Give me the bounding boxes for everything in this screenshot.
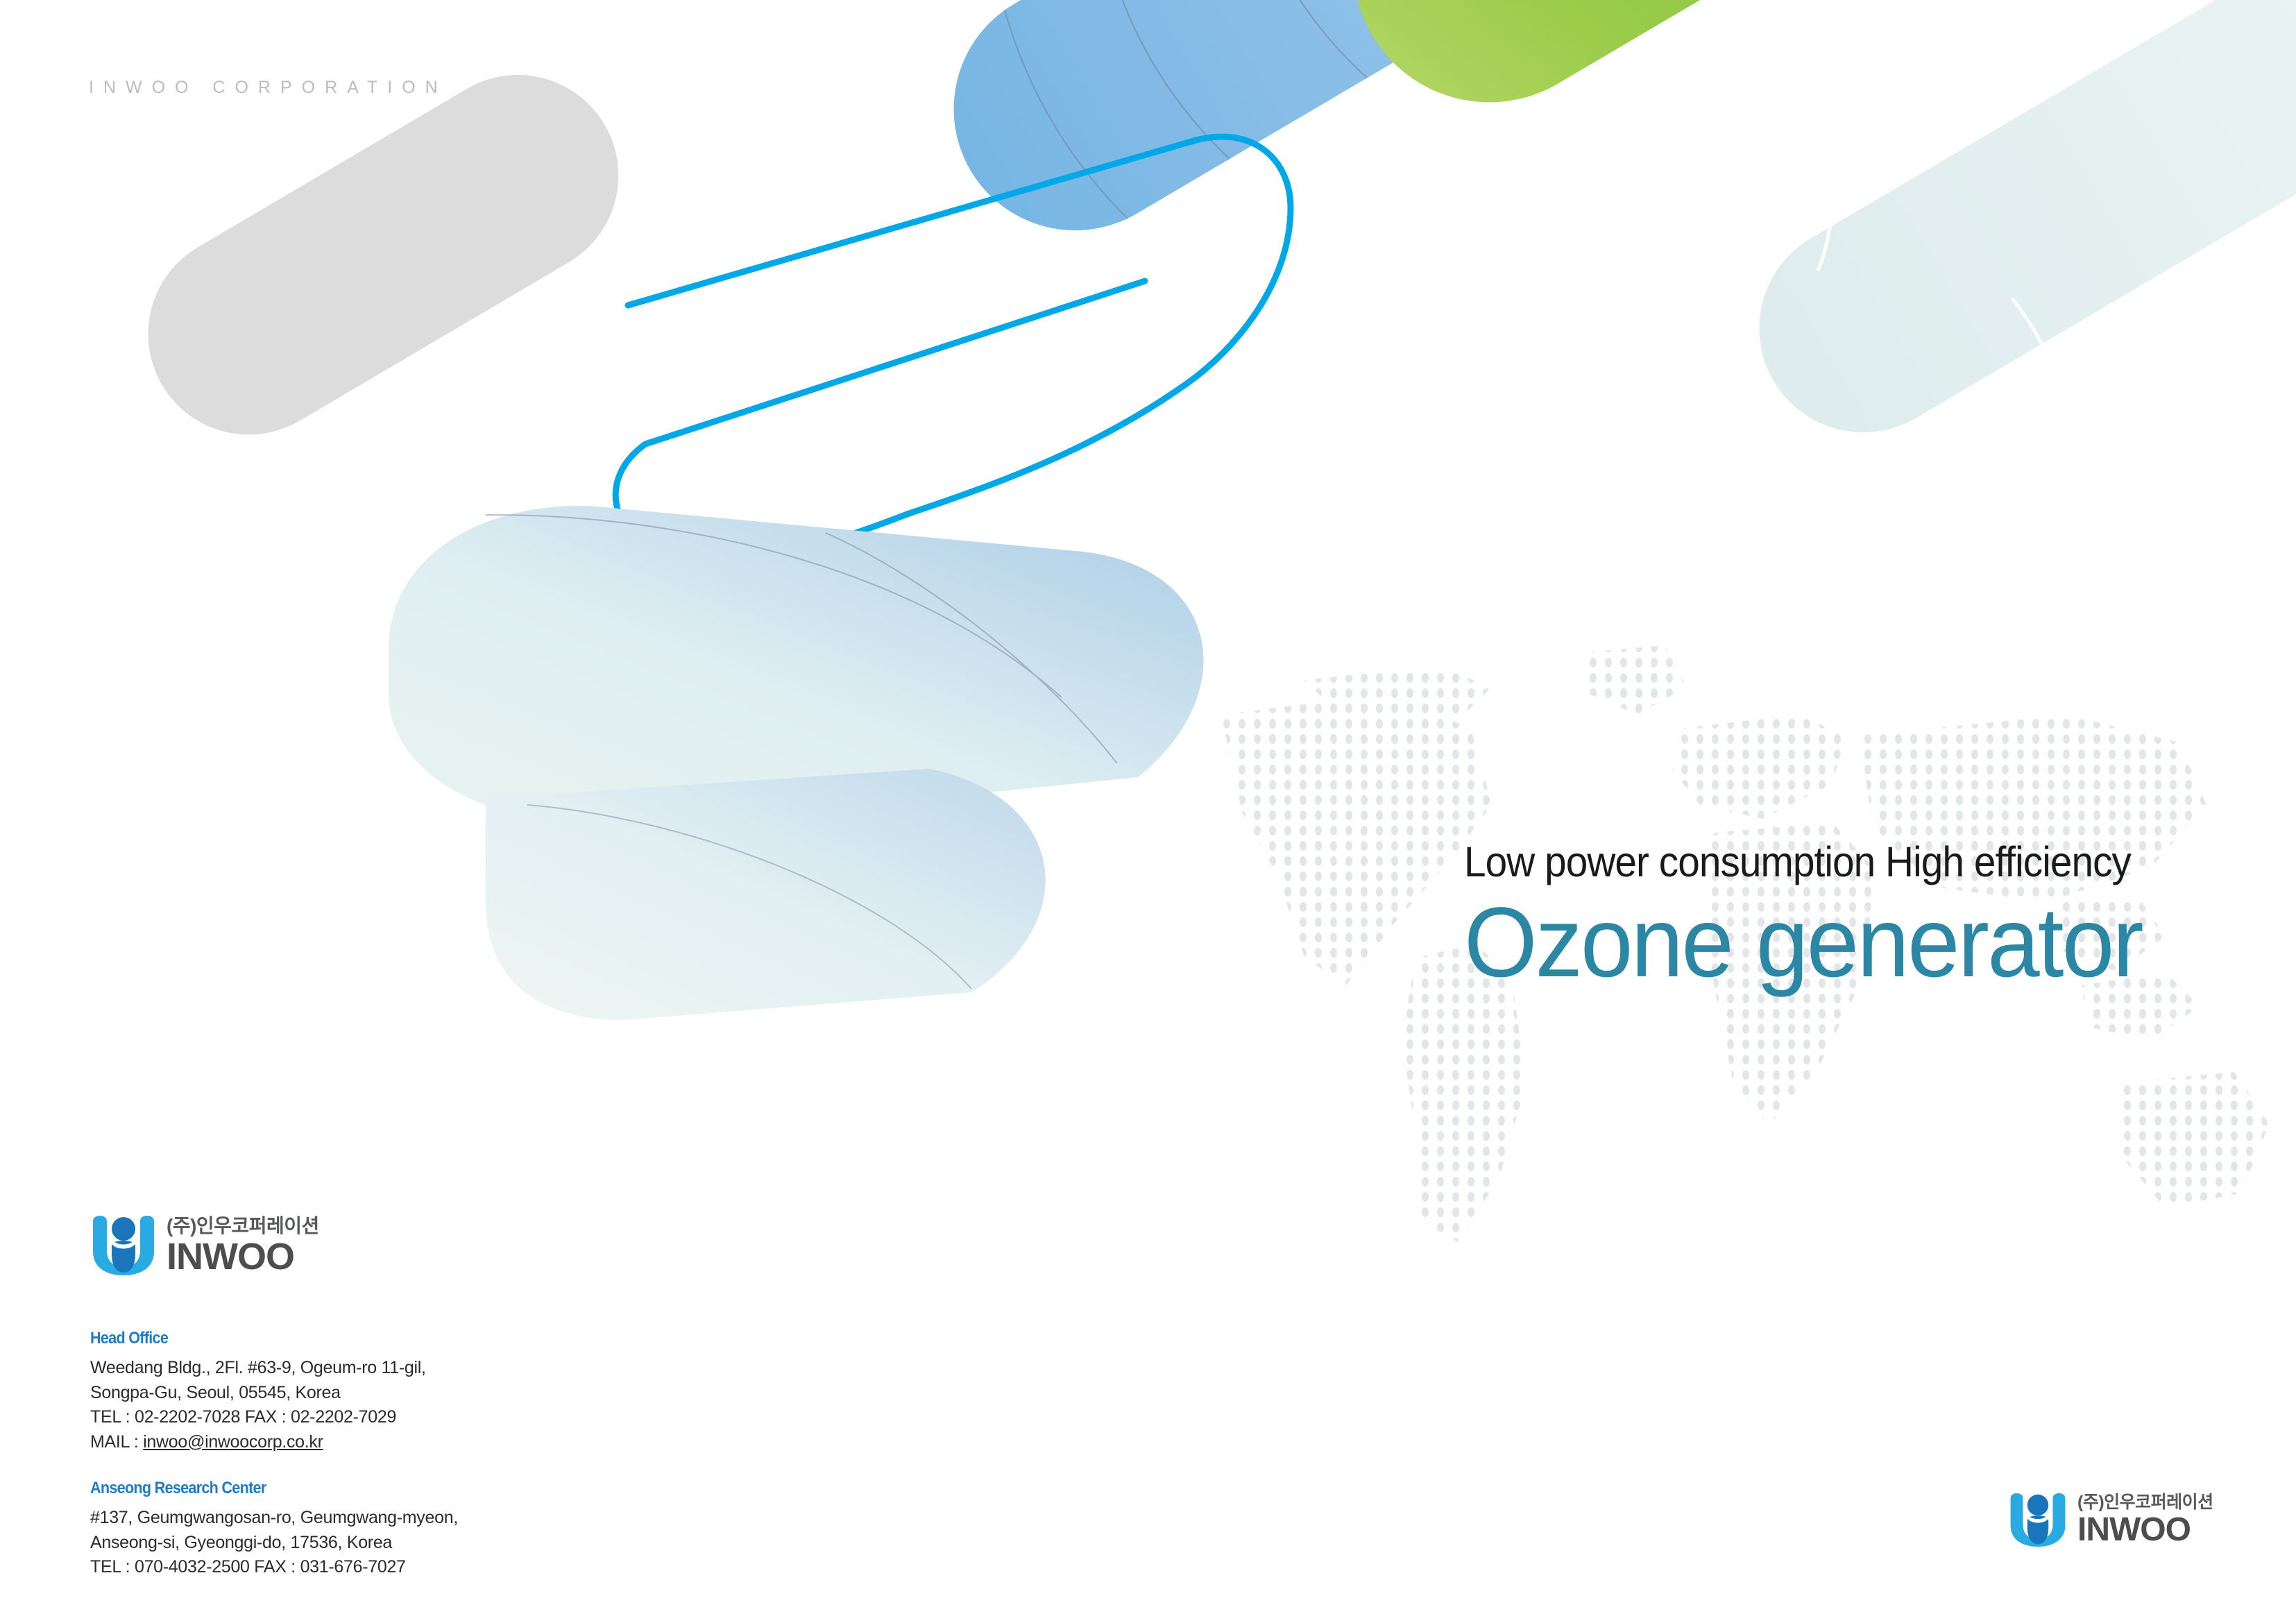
head-office-line-3: TEL : 02-2202-7028 FAX : 02-2202-7029 xyxy=(90,1405,715,1430)
brand-korean-name: (주)인우코퍼레이션 xyxy=(167,1216,319,1236)
research-center-line-1: #137, Geumgwangosan-ro, Geumgwang-myeon, xyxy=(90,1506,715,1531)
headline-subtitle: Low power consumption High efficiency xyxy=(1464,840,2206,884)
accent-curve xyxy=(615,137,1291,562)
inwoo-logo-icon xyxy=(2008,1493,2068,1547)
brand-english-name: INWOO xyxy=(2077,1513,2213,1547)
brand-logo-footer: (주)인우코퍼레이션 INWOO xyxy=(2008,1493,2213,1547)
mail-label: MAIL : xyxy=(90,1432,143,1452)
capsule-mint-fan-2 xyxy=(486,769,1046,1020)
brand-wordmark: (주)인우코퍼레이션 INWOO xyxy=(167,1216,319,1275)
headline-block: Low power consumption High efficiency Oz… xyxy=(1464,840,2262,995)
brochure-cover-page: INWOO CORPORATION Low power consumption … xyxy=(0,0,2296,1623)
page-title: Ozone generator xyxy=(1464,891,2222,995)
brand-logo-main: (주)인우코퍼레이션 INWOO xyxy=(90,1216,319,1275)
head-office-line-2: Songpa-Gu, Seoul, 05545, Korea xyxy=(90,1381,715,1406)
inwoo-logo-icon xyxy=(90,1216,157,1275)
contact-block: Head Office Weedang Bldg., 2Fl. #63-9, O… xyxy=(90,1329,715,1580)
capsule-grey xyxy=(111,37,656,471)
capsule-pale-right-middle xyxy=(1721,0,2296,470)
head-office-heading: Head Office xyxy=(90,1329,652,1348)
brand-english-name: INWOO xyxy=(167,1238,319,1275)
mail-link[interactable]: inwoo@inwoocorp.co.kr xyxy=(143,1432,323,1452)
research-center-line-3: TEL : 070-4032-2500 FAX : 031-676-7027 xyxy=(90,1555,715,1580)
brand-wordmark: (주)인우코퍼레이션 INWOO xyxy=(2077,1494,2213,1547)
head-office-line-1: Weedang Bldg., 2Fl. #63-9, Ogeum-ro 11-g… xyxy=(90,1356,715,1381)
head-office-mail-row: MAIL : inwoo@inwoocorp.co.kr xyxy=(90,1430,715,1455)
company-kicker: INWOO CORPORATION xyxy=(89,78,448,98)
research-center-heading: Anseong Research Center xyxy=(90,1479,652,1498)
brand-korean-name: (주)인우코퍼레이션 xyxy=(2077,1494,2213,1511)
research-center-line-2: Anseong-si, Gyeonggi-do, 17536, Korea xyxy=(90,1531,715,1556)
